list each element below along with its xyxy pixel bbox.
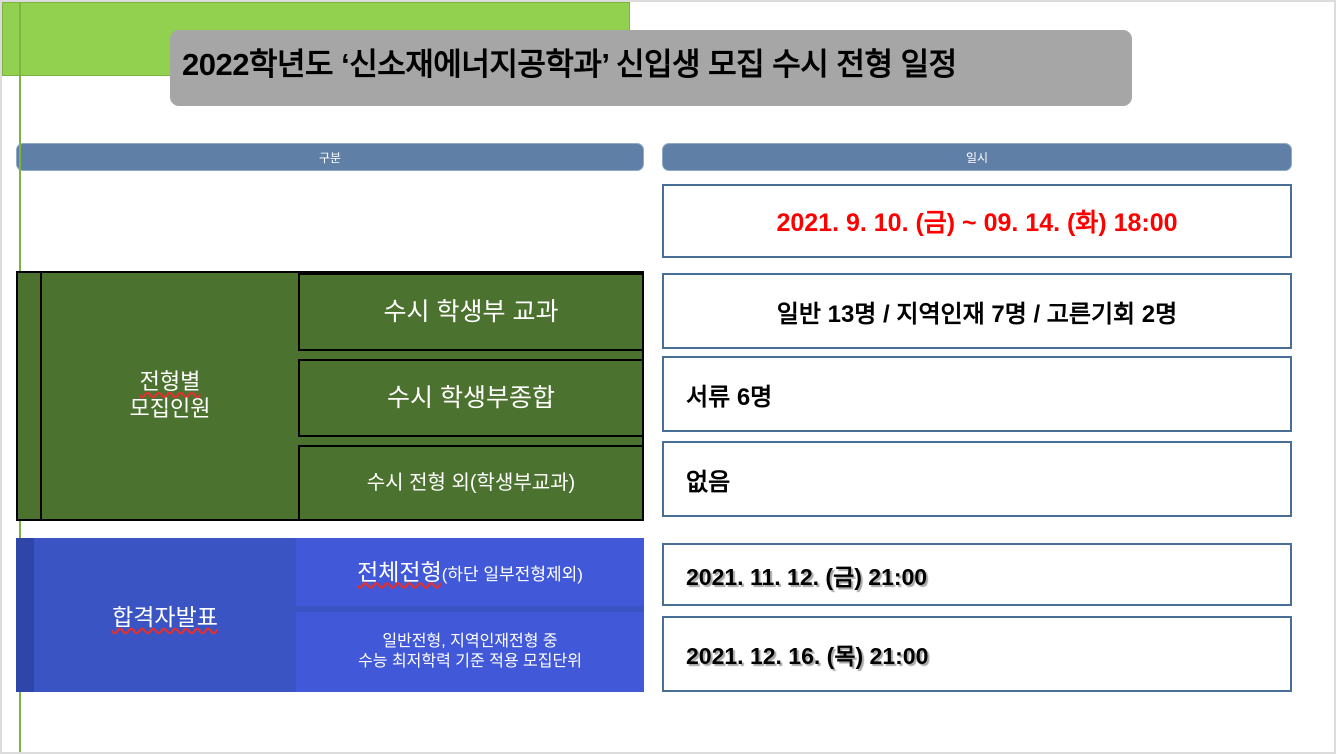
announcement-label-line2: 수능 최저학력 기준 적용 모집단위 — [358, 653, 582, 670]
quota-subrow-list: 수시 학생부 교과 수시 학생부종합 수시 전형 외(학생부교과) — [298, 273, 644, 519]
announcement-subrow-label-all: 전체전형(하단 일부전형제외) — [296, 538, 644, 606]
application-period-value: 2021. 9. 10. (금) ~ 09. 14. (화) 18:00 — [662, 184, 1292, 258]
table-row-announcement-block: 합격자발표 전체전형(하단 일부전형제외) 일반전형, 지역인재전형 중 수능 … — [16, 538, 644, 692]
announcement-label-line1: 일반전형, 지역인재전형 중 — [382, 633, 557, 650]
quota-subrow-label-susi-jonghap: 수시 학생부종합 — [298, 359, 644, 437]
quota-value-susi-jonghap: 서류 6명 — [662, 356, 1292, 432]
slide-canvas: 2022학년도 ‘신소재에너지공학과’ 신입생 모집 수시 전형 일정 구분 일… — [0, 0, 1336, 754]
announcement-subrow-label-minimum: 일반전형, 지역인재전형 중 수능 최저학력 기준 적용 모집단위 — [296, 612, 644, 692]
quota-subrow-label-susi-gyogwa: 수시 학생부 교과 — [298, 273, 644, 351]
table-row-quota-block: 전형별 모집인원 수시 학생부 교과 수시 학생부종합 수시 전형 외(학생부교… — [16, 271, 644, 521]
quota-value-susi-etc: 없음 — [662, 441, 1292, 517]
accent-strip — [16, 538, 34, 692]
quota-value-susi-gyogwa: 일반 13명 / 지역인재 7명 / 고른기회 2명 — [662, 273, 1292, 349]
announcement-subrow-list: 전체전형(하단 일부전형제외) 일반전형, 지역인재전형 중 수능 최저학력 기… — [296, 538, 644, 692]
announcement-value-minimum: 2021. 12. 16. (목) 21:00 — [662, 616, 1292, 692]
announcement-value-all: 2021. 11. 12. (금) 21:00 — [662, 543, 1292, 606]
quota-category-line2: 모집인원 — [130, 396, 211, 423]
quota-category-line1: 전형별 — [140, 369, 201, 396]
announcement-category-label: 합격자발표 — [34, 538, 296, 692]
quota-category-label: 전형별 모집인원 — [42, 273, 298, 519]
announcement-category-text: 합격자발표 — [112, 598, 218, 632]
table-row-application-category: 원서접수(인터넷) — [2, 2, 630, 76]
quota-subrow-label-susi-jonghap-text: 수시 학생부종합 — [387, 383, 555, 413]
announcement-label-main: 전체전형 — [357, 559, 442, 585]
quota-subrow-label-susi-etc: 수시 전형 외(학생부교과) — [298, 445, 644, 521]
announcement-label-note: (하단 일부전형제외) — [442, 565, 583, 584]
